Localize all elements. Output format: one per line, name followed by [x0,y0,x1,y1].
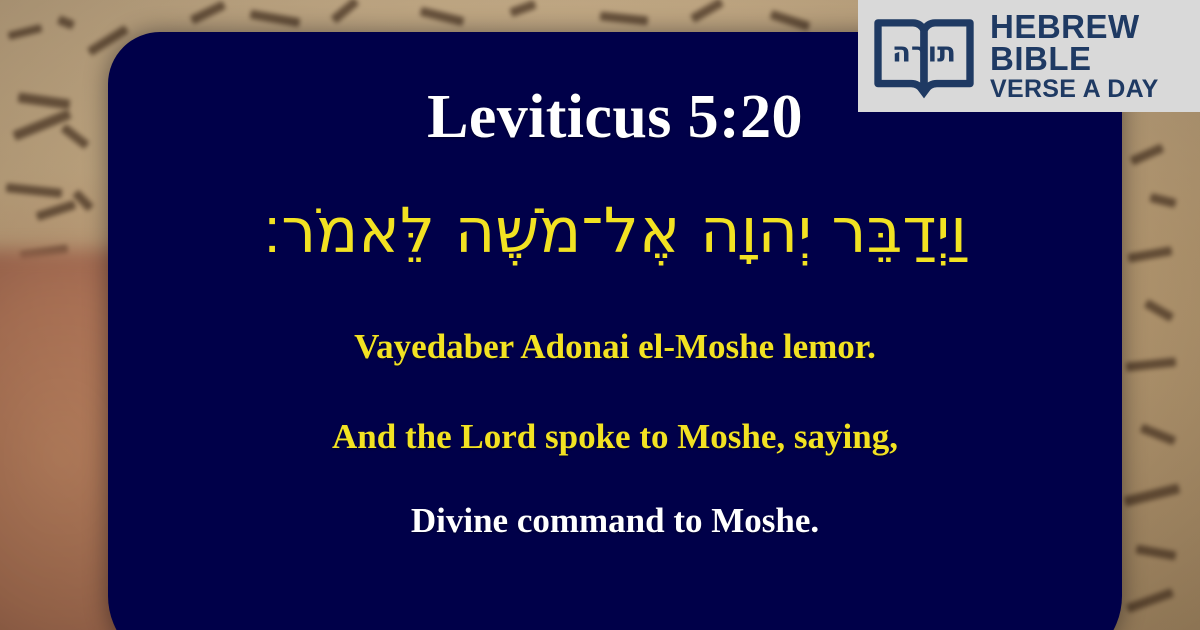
verse-image-canvas: Leviticus 5:20 וַיְדַבֵּר יְהוָה אֶל־מֹש… [0,0,1200,630]
verse-hebrew-text: וַיְדַבֵּר יְהוָה אֶל־מֹשֶׁה לֵּאמֹר׃ [130,192,1100,270]
verse-summary-note: Divine command to Moshe. [130,500,1100,542]
verse-transliteration-text: Vayedaber Adonai el-Moshe lemor. [130,326,1100,368]
brand-logo-badge[interactable]: תורה HEBREW BIBLE VERSE A DAY [858,0,1200,112]
open-book-torah-icon: תורה [872,10,976,102]
verse-card: Leviticus 5:20 וַיְדַבֵּר יְהוָה אֶל־מֹש… [108,32,1122,630]
svg-text:תורה: תורה [892,36,956,69]
brand-logo-wordmark: HEBREW BIBLE VERSE A DAY [990,11,1159,100]
brand-line-bible: BIBLE [990,43,1159,75]
verse-english-translation: And the Lord spoke to Moshe, saying, [130,416,1100,458]
brand-line-verse-a-day: VERSE A DAY [990,77,1159,101]
brand-line-hebrew: HEBREW [990,11,1159,43]
